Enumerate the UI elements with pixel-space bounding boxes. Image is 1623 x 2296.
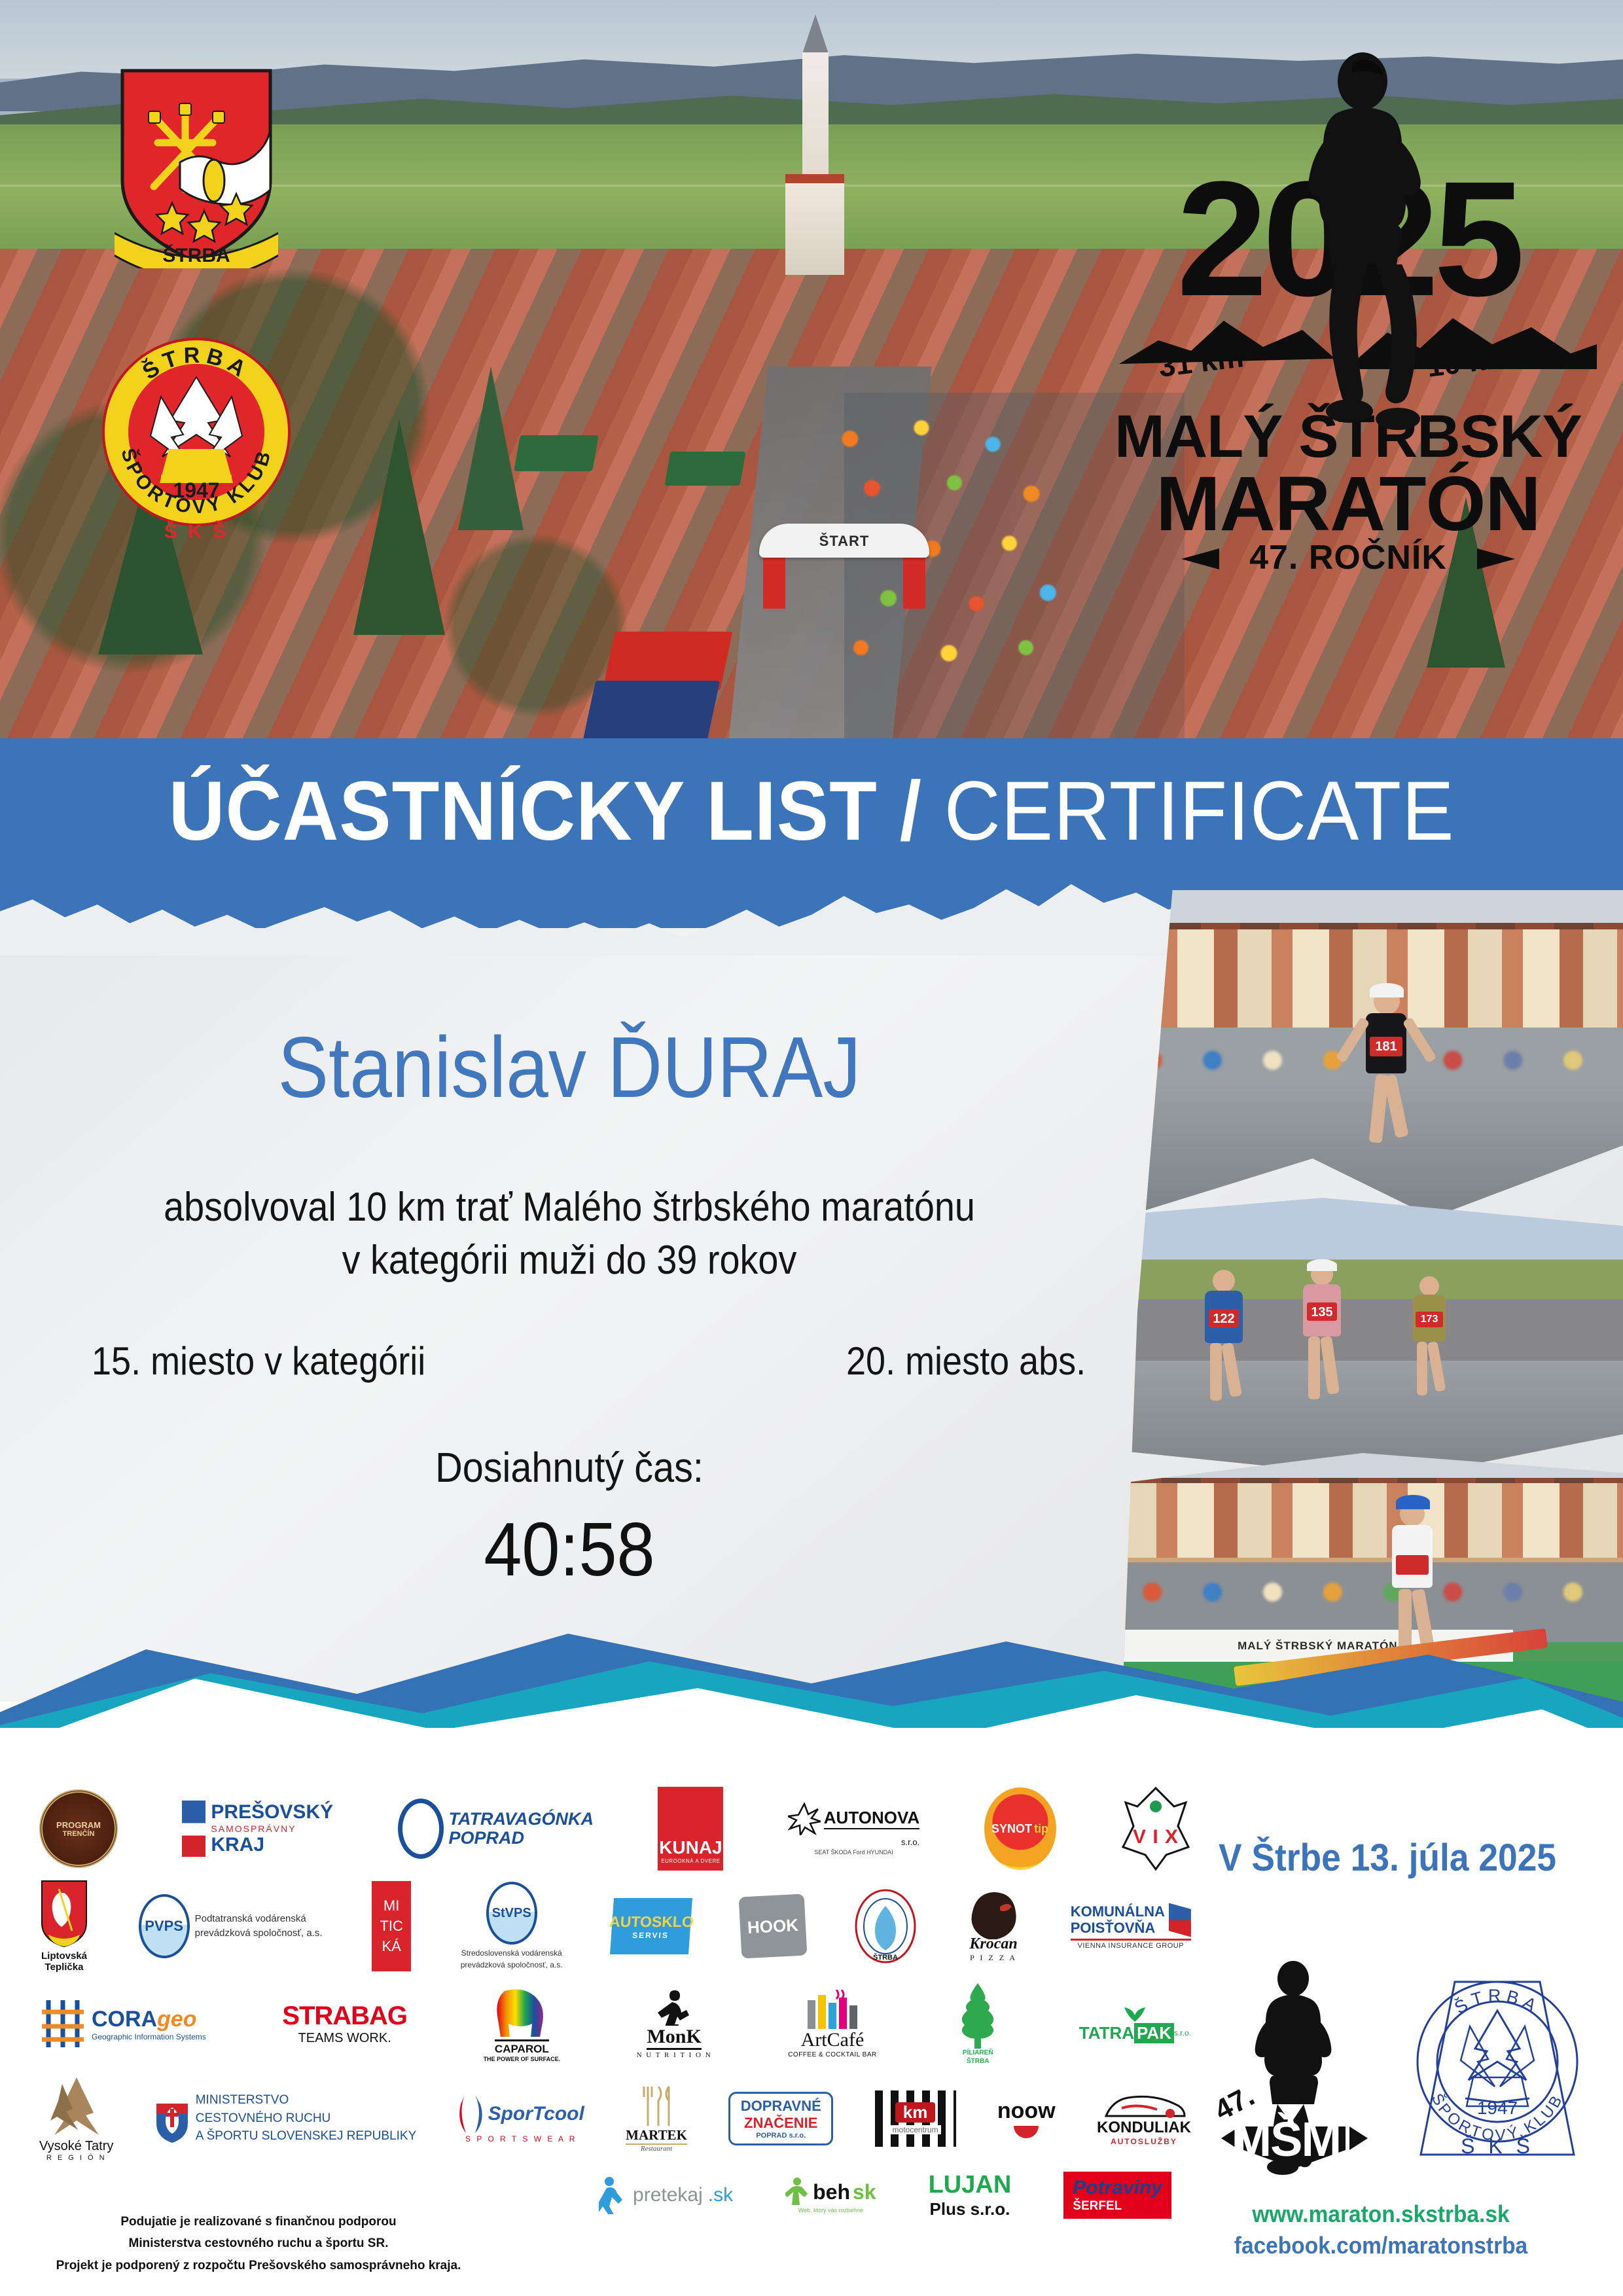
label-line3: SEAT ŠKODA Ford HYUNDAI <box>814 1849 893 1856</box>
sks-club-logo: 1947 ŠTRBA ŠPORTOVÝ KLUB Š K Š <box>98 334 294 543</box>
label-line2: EUROOKNÁ A DVERE <box>661 1858 720 1864</box>
funding-note-line2: Ministerstva cestovného ruchu a športu S… <box>49 2233 468 2254</box>
sponsor-lujan-plus: LUJAN Plus s.r.o. <box>929 2171 1012 2219</box>
fir-tree <box>353 419 445 635</box>
label-line1: PROGRAM <box>56 1820 101 1830</box>
runner-leg <box>1221 1342 1242 1397</box>
sks-stamp-year: 1947 <box>1476 2098 1517 2118</box>
sponsor-tatrapak: TATRA PAK s.r.o. <box>1079 2005 1191 2043</box>
label-line2: P I Z Z A <box>970 1953 1017 1963</box>
label-line1: SporTcool <box>488 2103 584 2125</box>
participant-name: Stanislav ĎURAJ <box>68 1018 1070 1117</box>
arch-leg <box>763 550 785 609</box>
label-line1: CORA <box>92 2007 157 2032</box>
sponsor-grid: PROGRAM TRENČÍN PREŠOVSKÝ SAMOSPRÁVNY KR… <box>39 1787 1191 2229</box>
label-line2: AUTOSLUŽBY <box>1111 2137 1177 2146</box>
contact-links: www.maraton.skstrba.sk facebook.com/mara… <box>1152 2200 1610 2259</box>
label-line2: S P O R T S W E A R <box>465 2134 577 2144</box>
label-line2: POISŤOVŇA <box>1071 1920 1165 1936</box>
sponsor-presovsky-kraj: PREŠOVSKÝ SAMOSPRÁVNY KRAJ <box>182 1801 333 1857</box>
spruce-tree-icon <box>953 1982 1003 2049</box>
time-value: 40:58 <box>57 1505 1082 1593</box>
runner-leg <box>1427 1341 1446 1392</box>
label-line2: sk <box>853 2180 876 2204</box>
runner-bib: 135 <box>1307 1302 1337 1321</box>
label-line2: THE POWER OF SURFACE. <box>484 2056 561 2062</box>
sponsor-vysoke-tatry-region: Vysoké Tatry R E G I Ó N <box>39 2075 113 2162</box>
label-line2: Plus s.r.o. <box>930 2199 1010 2219</box>
runner-silhouette-icon <box>1289 52 1440 458</box>
label-line1: LUJAN <box>929 2171 1012 2199</box>
sponsor-liptovska-teplicka: Liptovská Teplička <box>39 1880 89 1973</box>
label-line1: StVPS <box>486 1882 537 1945</box>
label-line1: Krocan <box>969 1935 1017 1953</box>
banner-title-en: CERTIFICATE <box>944 764 1455 858</box>
runner-figure: 173 <box>1397 1276 1463 1420</box>
label-line2: TIC <box>380 1918 402 1935</box>
sponsor-noow: noow <box>997 2098 1056 2138</box>
runner-figure: 135 <box>1286 1263 1358 1427</box>
strba-coat-of-arms: ŠTRBA <box>115 65 278 268</box>
event-title-line2: MARATÓN <box>1073 459 1623 548</box>
funding-note-line3: Projekt je podporený z rozpočtu Prešovsk… <box>49 2255 468 2276</box>
sponsor-artcafe: ArtCafé COFFEE & COCKTAIL BAR <box>788 1990 877 2058</box>
sponsor-program-trencin: PROGRAM TRENČÍN <box>39 1789 118 1868</box>
label-line1: Potraviny <box>1073 2177 1162 2199</box>
sponsor-caparol: CAPAROL THE POWER OF SURFACE. <box>484 1986 561 2062</box>
pretekaj-runner-icon <box>599 2176 628 2214</box>
description-line1: absolvoval 10 km trať Malého štrbského m… <box>57 1181 1082 1234</box>
runner-bib: 173 <box>1416 1312 1443 1327</box>
runner-bib <box>1396 1555 1429 1575</box>
sponsor-pvps: PVPS Podtatranská vodárenská prevádzková… <box>139 1894 323 1958</box>
fir-tree <box>458 367 524 530</box>
website-link[interactable]: www.maraton.skstrba.sk <box>1168 2200 1594 2228</box>
label-line2: R E G I Ó N <box>46 2154 107 2162</box>
corageo-grid-icon <box>39 1998 86 2050</box>
label-line2: ŠTRBA <box>963 2057 993 2066</box>
label-line3: prevádzková spoločnosť, a.s. <box>461 1959 563 1971</box>
vysoke-tatry-peaks-icon <box>46 2075 107 2138</box>
label-line2: Restaurant <box>641 2145 672 2153</box>
placement-row: 15. miesto v kategórii 20. miesto abs. <box>92 1338 1113 1384</box>
cutlery-icon <box>636 2084 677 2127</box>
arrow-right-icon <box>1477 548 1515 569</box>
funding-note: Podujatie je realizované s finančnou pod… <box>49 2211 468 2276</box>
banner-title-sk: ÚČASTNÍCKY LIST <box>169 764 878 858</box>
caparol-elephant-icon <box>491 1986 552 2039</box>
sponsor-dopravne-znacenie: DOPRAVNÉ ZNAČENIE POPRAD s.r.o. <box>728 2092 833 2145</box>
tatrapak-leaf-icon <box>1122 2005 1148 2022</box>
sponsor-row-2: Liptovská Teplička PVPS Podtatranská vod… <box>39 1880 1191 1973</box>
label-line1: PÍLIAREŇ <box>963 2049 993 2057</box>
sportcool-swoosh-icon <box>458 2094 484 2134</box>
runner-leg <box>1417 1342 1427 1395</box>
facebook-link[interactable]: facebook.com/maratonstrba <box>1168 2232 1594 2259</box>
runner-leg <box>1210 1343 1222 1401</box>
photo-runners-on-road: 122 135 173 <box>1122 1198 1623 1479</box>
strba-crest-label: ŠTRBA <box>162 244 230 266</box>
church-building <box>785 52 844 268</box>
label-line3: Geographic Information Systems <box>92 2032 206 2041</box>
label-line1: Vysoké Tatry <box>39 2139 113 2154</box>
runner-bib: 122 <box>1209 1309 1239 1327</box>
starburst-icon <box>788 1803 821 1835</box>
runner-figure: 181 <box>1345 988 1430 1185</box>
monk-figure-icon <box>656 1989 692 2026</box>
liptovska-crest-icon <box>39 1880 89 1948</box>
sponsor-synot-tip: SYNOT tip <box>984 1787 1056 1870</box>
label-line1: MonK <box>647 2026 701 2050</box>
label-line2: Teplička <box>41 1962 87 1973</box>
funding-note-line1: Podujatie je realizované s finančnou pod… <box>49 2211 468 2233</box>
sponsor-polovnicke-zdruzenie-strba: ŠTRBA <box>855 1889 916 1964</box>
label-line2: ZNAČENIE <box>744 2115 817 2132</box>
sponsor-km-motocentrum: km motocentrum <box>875 2090 956 2147</box>
label-line2: N U T R I T I O N <box>637 2051 712 2059</box>
label-line1: CAPAROL <box>495 2039 549 2056</box>
sponsor-hook: HOOK <box>738 1893 807 1958</box>
photo-finish-female-runner: 181 <box>1122 890 1623 1217</box>
label-line1: ŠTRBA <box>874 1953 899 1962</box>
start-arch: ŠTART <box>759 524 929 609</box>
label-line3: VIENNA INSURANCE GROUP <box>1078 1942 1185 1950</box>
sponsor-komunalna-poistovna: KOMUNÁLNA POISŤOVŇA VIENNA INSURANCE GRO… <box>1071 1903 1191 1950</box>
label-line1: Liptovská <box>41 1950 87 1962</box>
sponsor-tatravagonka: TATRAVAGÓNKA POPRAD <box>398 1799 594 1859</box>
sponsor-kunaj: KUNAJ EUROOKNÁ A DVERE <box>658 1787 723 1871</box>
start-arch-label: ŠTART <box>759 533 929 550</box>
label-line2: CESTOVNÉHO RUCHU <box>196 2109 417 2128</box>
label-line1: KUNAJ <box>659 1837 722 1858</box>
label-line2: geo <box>157 2007 196 2032</box>
label-line1: TATRAVAGÓNKA <box>449 1810 594 1829</box>
certificate-description: absolvoval 10 km trať Malého štrbského m… <box>57 1181 1082 1287</box>
label-line1: ArtCafé <box>801 2029 865 2051</box>
sponsor-row-1: PROGRAM TRENČÍN PREŠOVSKÝ SAMOSPRÁVNY KR… <box>39 1787 1191 1871</box>
label-line1: MARTEK <box>626 2127 687 2145</box>
label-line1: DOPRAVNÉ <box>741 2098 821 2115</box>
label-line1: KONDULIAK <box>1097 2119 1191 2137</box>
msm-emblem: 47. MŠM <box>1209 1960 1380 2176</box>
label-line3: prevádzková spoločnosť, a.s. <box>195 1926 323 1941</box>
psk-flag-icon <box>182 1801 205 1857</box>
label-line2: Podtatranská vodárenská <box>195 1912 323 1927</box>
event-tent <box>514 435 599 471</box>
runner-cap <box>1370 983 1404 997</box>
label-line1: MI <box>383 1897 399 1914</box>
label-line1: pretekaj <box>633 2184 703 2206</box>
runner-bib: 181 <box>1370 1037 1402 1056</box>
label-line1: TATRA <box>1079 2023 1134 2043</box>
sponsor-vix: V I X <box>1120 1787 1191 1871</box>
msm-initials: MŠM <box>1232 2111 1341 2167</box>
label-line1: MINISTERSTVO <box>196 2091 417 2109</box>
place-in-category: 15. miesto v kategórii <box>92 1338 425 1384</box>
sponsor-pretekaj-sk: pretekaj.sk <box>599 2176 733 2214</box>
sponsor-corageo: CORAgeo Geographic Information Systems <box>39 1998 206 2050</box>
label-line1: PVPS <box>139 1894 190 1958</box>
runner-leg <box>1320 1336 1340 1395</box>
sponsor-autonova: AUTONOVA s.r.o. SEAT ŠKODA Ford HYUNDAI <box>788 1803 919 1856</box>
vix-shield-icon: V I X <box>1120 1787 1191 1871</box>
label-line3: Web, ktorý vás rozbehne <box>798 2207 863 2214</box>
footer-emblems: 47. MŠM 1947 ŠTRBA <box>1198 1957 1603 2179</box>
runner-leg <box>1308 1336 1320 1399</box>
svg-text:V I X: V I X <box>1133 1826 1179 1848</box>
event-tent <box>582 681 720 743</box>
runner-headband <box>1396 1495 1430 1509</box>
label-line2: .sk <box>708 2184 733 2206</box>
runner-head <box>1419 1276 1439 1296</box>
label-line3: KÁ <box>382 1938 401 1955</box>
sponsor-ministerstvo: MINISTERSTVO CESTOVNÉHO RUCHU A ŠPORTU S… <box>155 2091 417 2145</box>
event-tent <box>664 452 745 486</box>
sponsor-row-4: Vysoké Tatry R E G I Ó N MINISTERSTVO CE… <box>39 2075 1191 2162</box>
issue-date: V Štrbe 13. júla 2025 <box>1188 1836 1586 1880</box>
runner-leg <box>1383 1074 1409 1138</box>
time-label: Dosiahnutý čas: <box>57 1443 1082 1492</box>
label-line1: km <box>895 2102 936 2123</box>
label-line2: s.r.o. <box>901 1837 919 1847</box>
label-line3: KRAJ <box>211 1834 333 1856</box>
label-line2: tip <box>1034 1822 1048 1836</box>
event-logo: 2025 31 km 10 km MALÝ ŠTRBSKÝ MARATÓN <box>1073 20 1623 596</box>
sks-stamp-emblem: 1947 ŠTRBA ŠPORTOVÝ KLUB Š K Š <box>1402 1964 1592 2173</box>
label-line2: TEAMS WORK. <box>298 2031 391 2046</box>
label-line2: Stredoslovenská vodárenská <box>461 1947 563 1959</box>
sponsor-martek: MARTEK Restaurant <box>626 2084 687 2153</box>
label-line2: motocentrum <box>890 2125 941 2134</box>
label-line2: ŠERFEL <box>1073 2199 1162 2214</box>
event-edition: 47. ROČNÍK <box>1073 538 1623 577</box>
label-line2: SAMOSPRÁVNY <box>211 1823 333 1834</box>
behsk-figure-icon <box>785 2177 810 2207</box>
turkey-icon <box>966 1890 1021 1939</box>
sponsor-stvps: StVPS Stredoslovenská vodárenská prevádz… <box>461 1882 563 1971</box>
label-line3: A ŠPORTU SLOVENSKEJ REPUBLIKY <box>196 2127 417 2145</box>
label-line1: noow <box>997 2098 1056 2124</box>
sks-stamp-initials: Š K Š <box>1461 2134 1534 2158</box>
slovak-flag-icon <box>155 2092 189 2144</box>
label-line2: SERVIS <box>632 1931 669 1940</box>
runner-cap <box>1307 1259 1337 1271</box>
church-nave <box>785 183 844 275</box>
label-line2: PAK <box>1134 2023 1174 2043</box>
photo-collage: 181 122 135 <box>1122 890 1623 1702</box>
label-line1: STRABAG <box>282 2001 407 2031</box>
sponsor-autosklo-servis: AUTOSKLO SERVIS <box>610 1898 692 1954</box>
sponsor-krocan-pizza: Krocan P I Z Z A <box>966 1890 1021 1963</box>
noow-smile-icon <box>1014 2126 1039 2138</box>
sponsor-beh-sk: beh sk Web, ktorý vás rozbehne <box>785 2177 876 2214</box>
tatravagonka-oval-icon <box>398 1799 444 1859</box>
sponsor-monk-nutrition: MonK N U T R I T I O N <box>637 1989 712 2059</box>
kp-flag-icon <box>1169 1903 1191 1937</box>
church-spire <box>802 14 829 54</box>
label-line1: AUTOSKLO <box>609 1913 694 1931</box>
label-line1: AUTONOVA <box>824 1808 919 1829</box>
sponsor-miticka: MI TIC KÁ <box>372 1881 411 1971</box>
label-line1: KOMUNÁLNA <box>1071 1904 1165 1920</box>
label-line1: PREŠOVSKÝ <box>211 1801 333 1823</box>
sponsor-strabag: STRABAG TEAMS WORK. <box>282 2001 407 2046</box>
label-line2: POPRAD <box>449 1829 594 1848</box>
runner-head <box>1213 1270 1235 1292</box>
label-line2: TRENČÍN <box>63 1830 95 1838</box>
label-line1: beh <box>813 2180 850 2204</box>
runner-figure: 122 <box>1188 1270 1260 1427</box>
label-line3: POPRAD s.r.o. <box>756 2132 806 2140</box>
banner-title-separator: / <box>878 764 944 858</box>
label-line3: s.r.o. <box>1174 2028 1191 2037</box>
label-line2: COFFEE & COCKTAIL BAR <box>788 2051 877 2058</box>
sponsor-row-3: CORAgeo Geographic Information Systems S… <box>39 1982 1191 2066</box>
sks-stamp-ring-top: ŠTRBA <box>1450 1986 1543 2018</box>
sponsor-piliaren-strba: PÍLIAREŇ ŠTRBA <box>953 1982 1003 2066</box>
sponsor-sportcool: SporTcool S P O R T S W E A R <box>458 2094 584 2144</box>
label-line1: SYNOT <box>991 1822 1032 1836</box>
hunting-club-icon: ŠTRBA <box>855 1889 916 1964</box>
sponsor-konduliak: KONDULIAK AUTOSLUŽBY <box>1097 2091 1191 2146</box>
description-line2: v kategórii muži do 39 rokov <box>57 1234 1082 1287</box>
sks-initials: Š K Š <box>164 520 228 543</box>
banner-title: ÚČASTNÍCKY LIST / CERTIFICATE <box>57 763 1566 859</box>
artcafe-brush-icon <box>805 1990 860 2029</box>
place-absolute: 20. miesto abs. <box>846 1338 1086 1384</box>
arch-leg <box>903 550 925 609</box>
certificate-page: ŠTART ŠTRBA <box>0 0 1623 2296</box>
